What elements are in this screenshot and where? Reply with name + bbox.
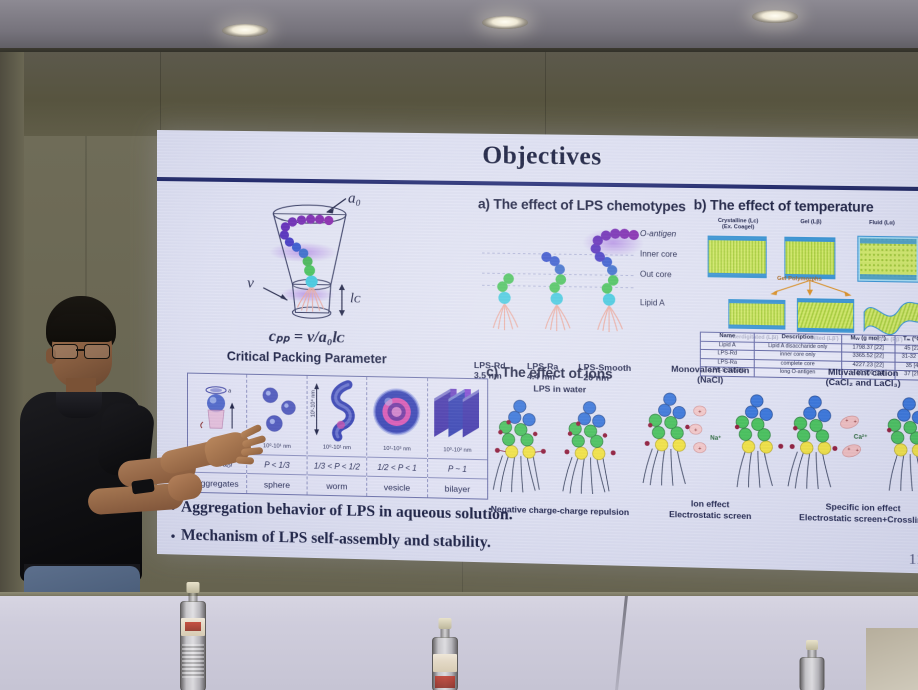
- svg-text:+: +: [845, 418, 848, 424]
- ceiling-light-1: [222, 24, 268, 37]
- packing-name-2: worm: [307, 474, 366, 495]
- bottle-label-accent: [185, 622, 201, 631]
- bottle-label-accent: [435, 676, 455, 688]
- packing-p-2: 1/3 < P < 1/2: [307, 455, 366, 475]
- wall-seam: [160, 52, 161, 140]
- ion-column-multivalent: Mltivalent cation (CaCl₂ and LaCl₃): [779, 366, 918, 527]
- svg-text:+: +: [694, 428, 697, 434]
- bottle-cap: [439, 618, 452, 629]
- region-label-out-core: Out core: [640, 270, 672, 280]
- glasses-bridge: [76, 349, 84, 351]
- ion-column-water: LPS in water: [478, 382, 642, 518]
- bullet-item: • Mechanism of LPS self-assembly and sta…: [165, 526, 591, 556]
- cone-svg: [195, 189, 419, 333]
- bullet-text: Mechanism of LPS self-assembly and stabi…: [181, 527, 491, 553]
- region-label-o-antigen: O-antigen: [640, 229, 676, 239]
- label-v: v: [247, 275, 254, 292]
- svg-text:+: +: [854, 419, 857, 425]
- lps-cacl2-svg: ++ ++ Ca²⁺: [779, 390, 918, 500]
- ion-title-multivalent: Mltivalent cation (CaCl₂ and LaCl₃): [779, 366, 918, 390]
- projection-screen: Objectives 11: [157, 130, 918, 574]
- ion-species-na: Na⁺: [710, 435, 721, 442]
- svg-text:+: +: [698, 446, 701, 452]
- fig-worm: 10¹-10⁴ nm: [307, 376, 366, 446]
- cpp-equation: cₚₚ = v/a₀lᴄ: [195, 325, 419, 349]
- svg-text:+: +: [698, 409, 701, 415]
- packing-p-3: 1/2 < P < 1: [367, 457, 426, 477]
- ceiling: [0, 0, 918, 52]
- worm-axis-label: 10¹-10⁴ nm: [311, 390, 317, 418]
- packing-col-sphere: 10⁰-10¹ nm P < 1/3 sphere: [248, 375, 308, 495]
- bottle-label: [433, 654, 457, 672]
- ion-species-ca: Ca²⁺: [854, 434, 868, 441]
- ion-title-water: LPS in water: [478, 382, 642, 395]
- phase-label-fluid: Fluid (Lα): [856, 220, 908, 227]
- ion-title-monovalent: Monovalent cation (NaCl): [634, 363, 787, 386]
- presentation-photo: Objectives 11: [0, 0, 918, 690]
- slide-title: Objectives: [157, 138, 918, 176]
- presenter-finger: [236, 456, 254, 464]
- water-bottle-1: [176, 582, 210, 690]
- region-label-lipid-a: Lipid A: [640, 298, 665, 308]
- label-lc: lᴄ: [350, 291, 360, 307]
- section-a-heading: a) The effect of LPS chemotypes: [478, 196, 706, 214]
- table-side-panel: [866, 628, 918, 690]
- slide: Objectives 11: [157, 130, 918, 574]
- packing-name-3: vesicle: [367, 476, 426, 498]
- cpp-caption: Critical Packing Parameter: [195, 349, 419, 367]
- ion-column-monovalent: Monovalent cation (NaCl): [634, 363, 787, 523]
- packing-name-1: sphere: [248, 473, 307, 494]
- svg-text:+: +: [856, 448, 859, 454]
- membrane-phase-figure: Crystalline (Lᴄ) (Ex. Coagel) Gel (Lβ) F…: [702, 218, 918, 332]
- svg-text:+: +: [847, 447, 850, 453]
- packing-p-1: P < 1/3: [248, 454, 307, 474]
- bottle-cap: [806, 640, 818, 650]
- fig-sphere: [248, 375, 307, 444]
- wall-seam: [545, 52, 546, 140]
- packing-col-vesicle: 10¹-10³ nm 1/2 < P < 1 vesicle: [367, 377, 427, 497]
- ceiling-light-2: [482, 16, 528, 29]
- lps-nacl-svg: + + + Na⁺: [634, 387, 787, 496]
- label-a0: a₀: [348, 191, 361, 208]
- water-bottle-3: [796, 640, 828, 690]
- presenter-collar: [56, 392, 102, 418]
- bottle-ribs: [182, 644, 204, 678]
- section-a-lps-chemotypes: a) The effect of LPS chemotypes: [478, 196, 706, 214]
- svg-text:a: a: [228, 388, 231, 394]
- glasses-lens-right: [84, 344, 110, 359]
- phase-label-gel: Gel (Lβ): [785, 219, 837, 226]
- water-bottle-2: [428, 618, 462, 690]
- region-label-inner-core: Inner core: [640, 249, 677, 259]
- section-b-heading: b) The effect of temperature: [694, 197, 918, 216]
- presenter-hair-front: [48, 314, 114, 342]
- wall-upper: [0, 52, 918, 140]
- ceiling-light-3: [752, 10, 798, 23]
- membrane-svg: [702, 230, 918, 340]
- glasses-lens-left: [52, 344, 78, 359]
- gel-polymorphs-label: Gel Polymorphs: [758, 276, 841, 283]
- glasses-icon: [52, 344, 114, 357]
- chemotype-figure: O-antigen Inner core Out core Lipid A: [482, 223, 658, 335]
- ion-footer-multivalent: Specific ion effect Electrostatic screen…: [779, 500, 918, 526]
- bottle-body: [800, 657, 825, 690]
- chemotype-svg: [482, 223, 698, 340]
- bullet-text: Aggregation behavior of LPS in aqueous s…: [181, 499, 513, 525]
- section-b-temperature: b) The effect of temperature Crystalline…: [694, 197, 918, 216]
- bottle-cap: [187, 582, 200, 593]
- packing-col-worm: 10¹-10⁴ nm 10⁰-10¹ nm 1/3 < P < 1/2 worm: [307, 376, 367, 496]
- lps-water-svg: [478, 394, 642, 503]
- section-c-heading: c) The effect of ions: [486, 364, 612, 382]
- critical-packing-diagram: a₀ v lᴄ cₚₚ = v/a₀lᴄ Critical Packing Pa…: [195, 189, 419, 384]
- fig-vesicle: [367, 377, 426, 447]
- ion-footer-monovalent: Ion effect Electrostatic screen: [634, 497, 787, 523]
- slide-number: 11: [909, 551, 918, 569]
- phase-label-crystalline: Crystalline (Lᴄ) (Ex. Coagel): [706, 218, 770, 231]
